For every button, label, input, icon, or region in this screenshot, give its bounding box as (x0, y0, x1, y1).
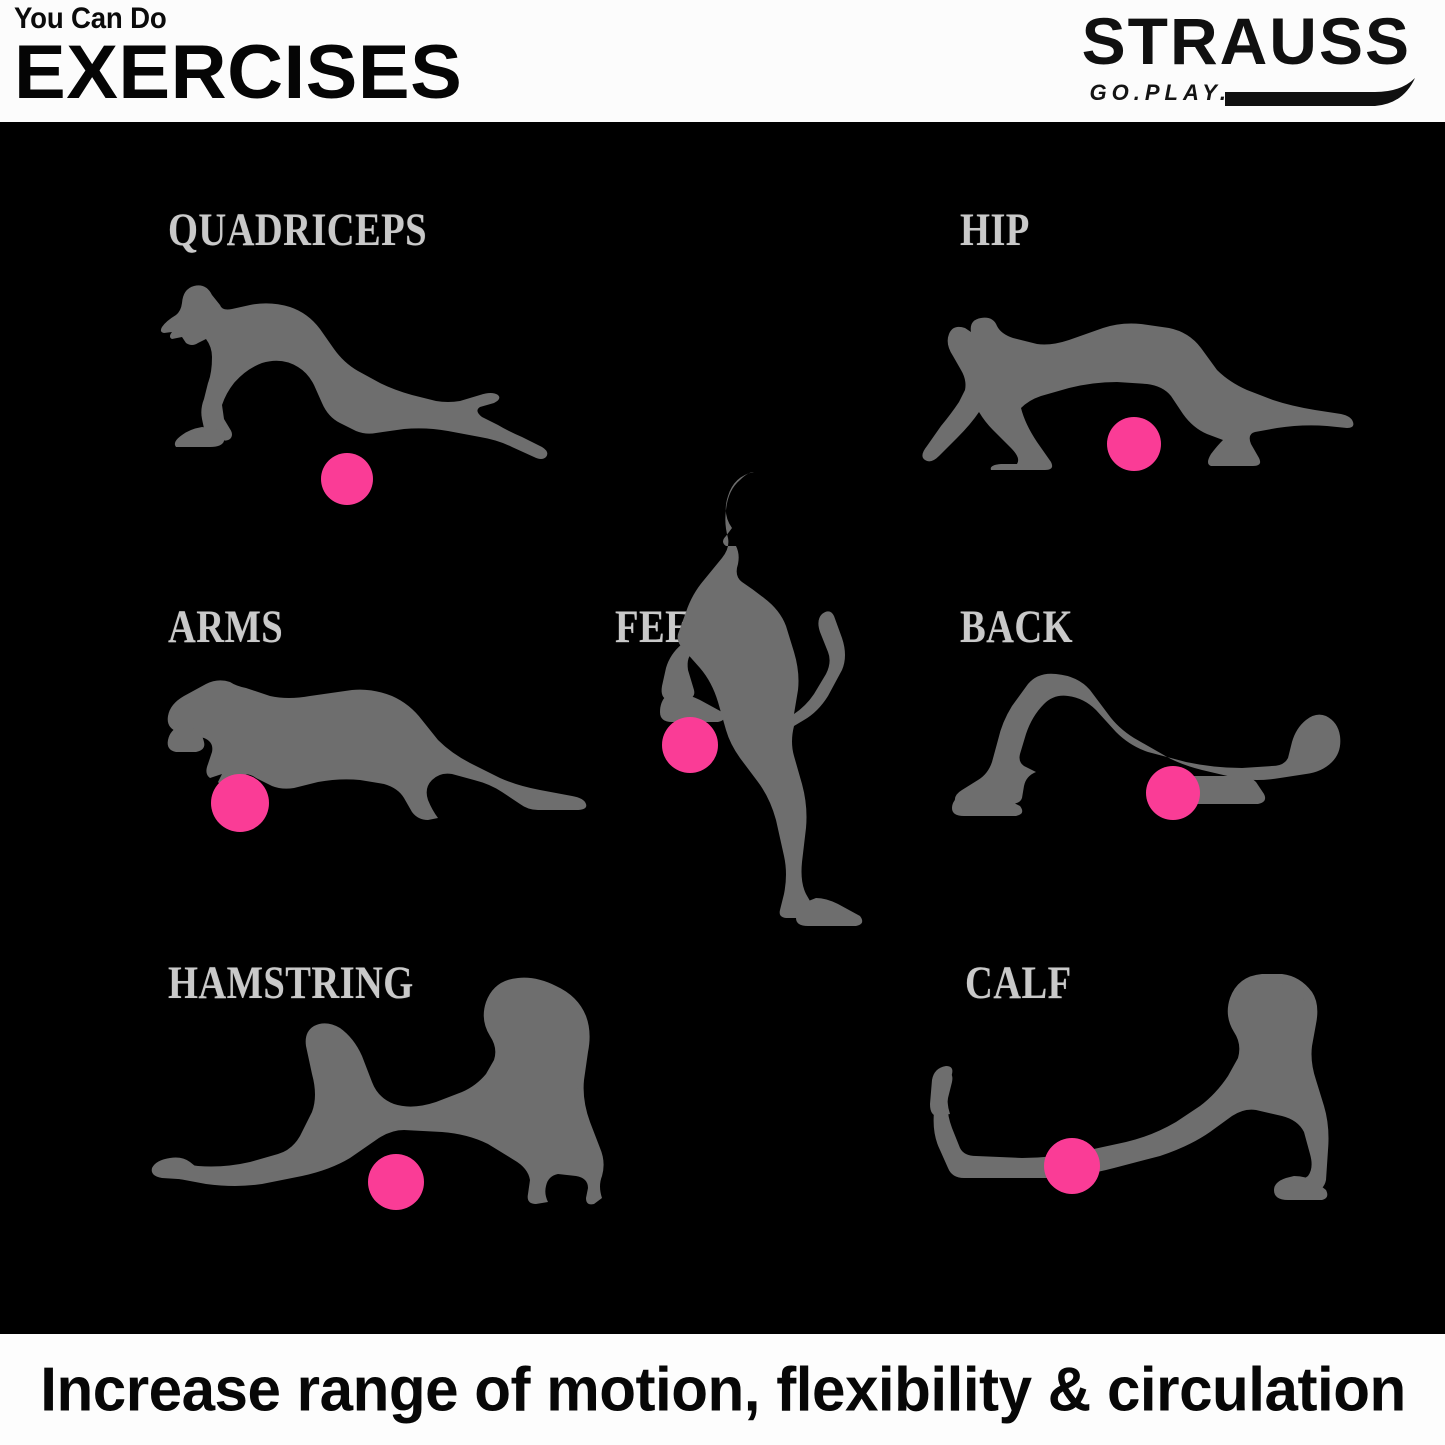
footer-caption: Increase range of motion, flexibility & … (40, 1354, 1405, 1425)
footer-bar: Increase range of motion, flexibility & … (0, 1334, 1445, 1445)
feet-standing-pose-icon (660, 462, 910, 932)
massage-ball (662, 717, 718, 773)
calf-seated-pose-icon (930, 970, 1330, 1220)
header-title-block: You Can Do EXERCISES (14, 2, 454, 110)
hamstring-seated-pose-icon (150, 970, 620, 1220)
exercise-label-back: BACK (960, 604, 1073, 651)
massage-ball (1146, 766, 1200, 820)
brand-logo: STRAUSS GO.PLAY. (837, 6, 1427, 118)
massage-ball (211, 774, 269, 832)
massage-ball (368, 1154, 424, 1210)
exercise-cell-arms[interactable]: ARMS (0, 522, 560, 922)
exercise-cell-calf[interactable]: CALF (805, 922, 1445, 1334)
massage-ball (1107, 417, 1161, 471)
brand-tagline: GO.PLAY. (1090, 80, 1231, 106)
page-title: EXERCISES (14, 36, 462, 110)
exercise-cell-back[interactable]: BACK (900, 522, 1445, 922)
exercise-cell-quadriceps[interactable]: QUADRICEPS (0, 122, 640, 522)
back-reclining-pose-icon (950, 650, 1350, 830)
swoosh-icon (1225, 78, 1415, 112)
hip-side-lying-pose-icon (917, 300, 1357, 490)
exercise-cell-feet[interactable]: FEET (560, 452, 900, 952)
exercise-label-quadriceps: QUADRICEPS (168, 207, 427, 254)
quadriceps-plank-pose-icon (150, 277, 590, 507)
header-bar: You Can Do EXERCISES STRAUSS GO.PLAY. (0, 0, 1445, 122)
infographic-page: You Can Do EXERCISES STRAUSS GO.PLAY. QU… (0, 0, 1445, 1445)
exercise-label-arms: ARMS (168, 604, 283, 651)
exercise-grid-panel: QUADRICEPS HIP ARMS (0, 122, 1445, 1334)
exercise-label-hip: HIP (960, 207, 1030, 254)
exercise-cell-hamstring[interactable]: HAMSTRING (0, 922, 640, 1334)
brand-name: STRAUSS (1082, 6, 1411, 76)
massage-ball (321, 453, 373, 505)
massage-ball (1044, 1138, 1100, 1194)
arms-side-lying-pose-icon (160, 660, 600, 840)
